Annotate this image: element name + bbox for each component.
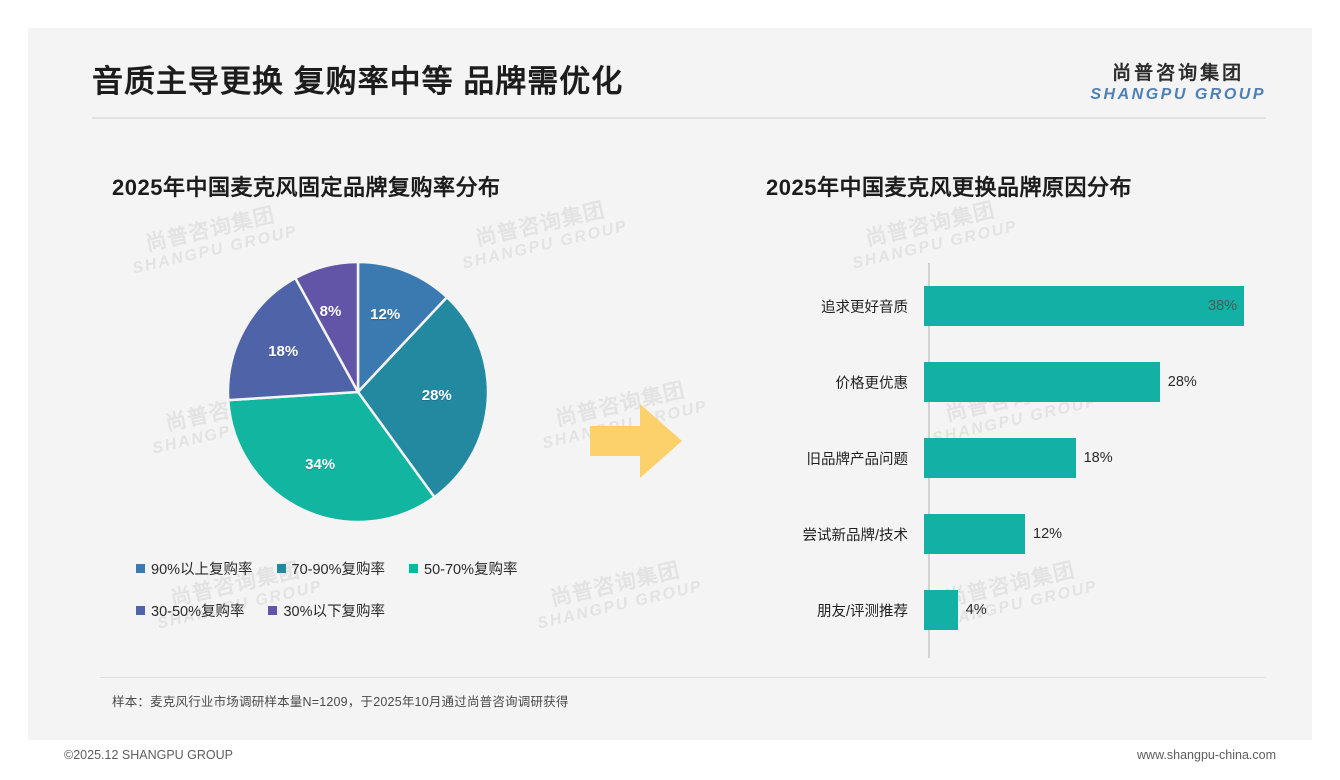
- legend-label: 30%以下复购率: [283, 600, 385, 621]
- pie-chart-title: 2025年中国麦克风固定品牌复购率分布: [112, 170, 500, 202]
- footnote-text: 样本：麦克风行业市场调研样本量N=1209，于2025年10月通过尚普咨询调研获…: [112, 691, 569, 710]
- legend-label: 50-70%复购率: [424, 558, 517, 579]
- slide-canvas: 尚普咨询集团 SHANGPU GROUP 尚普咨询集团 SHANGPU GROU…: [28, 28, 1312, 740]
- slide-footer: ©2025.12 SHANGPU GROUP www.shangpu-china…: [28, 742, 1312, 768]
- bar-value-label: 12%: [1033, 526, 1062, 542]
- header-divider: [92, 117, 1266, 119]
- legend-item[interactable]: 50-70%复购率: [409, 558, 517, 579]
- legend-swatch: [136, 606, 145, 615]
- watermark-cn: 尚普咨询集团: [845, 195, 1015, 257]
- bar-row: 旧品牌产品问题18%: [728, 438, 1288, 478]
- bar-track: 28%: [924, 362, 1288, 402]
- bar-category-label: 朋友/评测推荐: [728, 600, 924, 621]
- bar-fill[interactable]: [924, 590, 958, 630]
- bar-chart-title: 2025年中国麦克风更换品牌原因分布: [766, 170, 1132, 202]
- legend-label: 90%以上复购率: [151, 558, 253, 579]
- pie-slice-label: 8%: [320, 303, 342, 320]
- bar-row: 朋友/评测推荐4%: [728, 590, 1288, 630]
- bar-category-label: 追求更好音质: [728, 296, 924, 317]
- legend-row: 30-50%复购率30%以下复购率: [136, 600, 636, 621]
- bar-track: 12%: [924, 514, 1288, 554]
- bar-track: 18%: [924, 438, 1288, 478]
- bar-row: 尝试新品牌/技术12%: [728, 514, 1288, 554]
- logo-text-en: SHANGPU GROUP: [1090, 86, 1266, 104]
- pie-slice-label: 18%: [268, 343, 298, 360]
- bar-value-label: 28%: [1168, 374, 1197, 390]
- bar-value-label: 18%: [1084, 450, 1113, 466]
- bar-category-label: 旧品牌产品问题: [728, 448, 924, 469]
- pie-slice-label: 34%: [305, 456, 335, 473]
- bar-fill[interactable]: [924, 286, 1244, 326]
- bar-track: 4%: [924, 590, 1288, 630]
- legend-item[interactable]: 30%以下复购率: [268, 600, 385, 621]
- pie-slice-label: 28%: [422, 387, 452, 404]
- legend-swatch: [268, 606, 277, 615]
- slide-header: 音质主导更换 复购率中等 品牌需优化 尚普咨询集团 SHANGPU GROUP: [28, 28, 1312, 120]
- legend-swatch: [277, 564, 286, 573]
- bar-track: 38%: [924, 286, 1288, 326]
- bar-fill[interactable]: [924, 362, 1160, 402]
- website-link[interactable]: www.shangpu-china.com: [1137, 748, 1276, 762]
- pie-chart: 12%28%34%18%8% 90%以上复购率70-90%复购率50-70%复购…: [108, 228, 668, 658]
- bar-row: 价格更优惠28%: [728, 362, 1288, 402]
- page-title: 音质主导更换 复购率中等 品牌需优化: [92, 56, 623, 101]
- legend-label: 70-90%复购率: [292, 558, 385, 579]
- pie-slice-label: 12%: [370, 306, 400, 323]
- legend-swatch: [136, 564, 145, 573]
- legend-item[interactable]: 90%以上复购率: [136, 558, 253, 579]
- legend-swatch: [409, 564, 418, 573]
- brand-logo: 尚普咨询集团 SHANGPU GROUP: [1090, 58, 1266, 104]
- bar-fill[interactable]: [924, 514, 1025, 554]
- legend-label: 30-50%复购率: [151, 600, 244, 621]
- legend-item[interactable]: 30-50%复购率: [136, 600, 244, 621]
- pie-legend: 90%以上复购率70-90%复购率50-70%复购率 30-50%复购率30%以…: [136, 558, 636, 642]
- legend-item[interactable]: 70-90%复购率: [277, 558, 385, 579]
- bar-row: 追求更好音质38%: [728, 286, 1288, 326]
- right-arrow-icon: [588, 400, 684, 487]
- legend-row: 90%以上复购率70-90%复购率50-70%复购率: [136, 558, 636, 579]
- logo-text-cn: 尚普咨询集团: [1090, 58, 1266, 85]
- bar-chart: 追求更好音质38%价格更优惠28%旧品牌产品问题18%尝试新品牌/技术12%朋友…: [728, 253, 1288, 673]
- footnote-divider: [100, 677, 1266, 679]
- bar-value-label: 4%: [966, 602, 987, 618]
- copyright-text: ©2025.12 SHANGPU GROUP: [64, 748, 233, 762]
- bar-value-label: 38%: [1208, 298, 1237, 314]
- bar-category-label: 尝试新品牌/技术: [728, 524, 924, 545]
- bar-fill[interactable]: [924, 438, 1076, 478]
- bar-category-label: 价格更优惠: [728, 372, 924, 393]
- pie-chart-svg: [222, 256, 494, 528]
